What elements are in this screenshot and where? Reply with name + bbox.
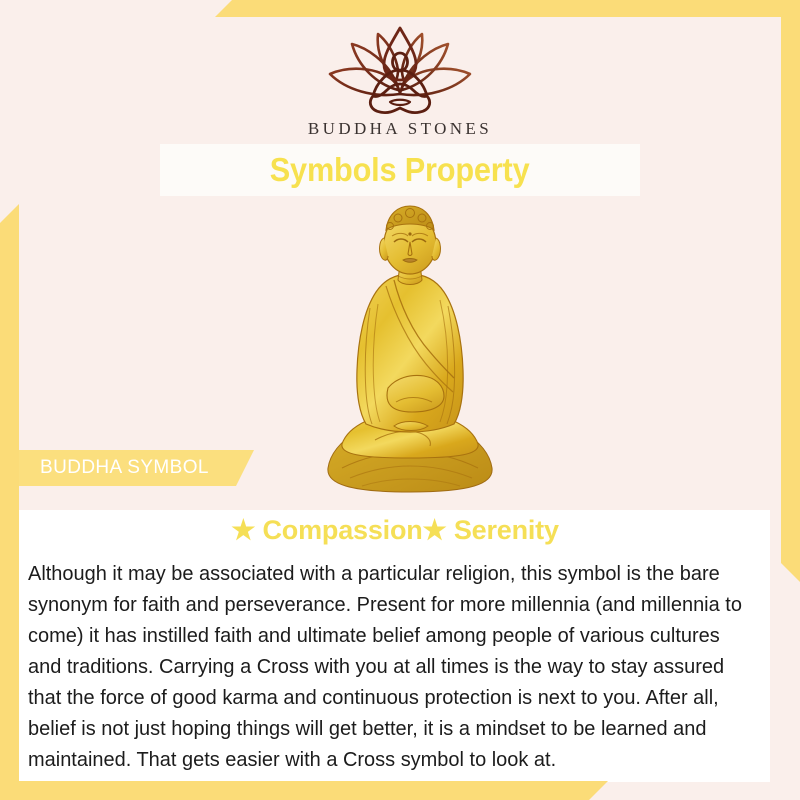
decor-strip-left <box>0 204 19 782</box>
brand-logo-block: BUDDHA STONES <box>0 22 800 139</box>
lotus-meditation-icon <box>310 22 490 117</box>
page-title: Symbols Property <box>270 151 530 189</box>
section-ribbon: BUDDHA SYMBOL <box>19 450 254 486</box>
body-text: Although it may be associated with a par… <box>28 558 754 775</box>
buddha-statue-image <box>320 200 500 500</box>
poster-canvas: BUDDHA STONES Symbols Property <box>0 0 800 800</box>
brand-name: BUDDHA STONES <box>0 119 800 139</box>
ribbon-label: BUDDHA SYMBOL <box>40 457 209 479</box>
attributes-heading: ★ Compassion★ Serenity <box>0 515 790 546</box>
title-banner: Symbols Property <box>160 144 640 196</box>
decor-strip-bottom <box>0 781 608 800</box>
decor-strip-top <box>215 0 800 17</box>
